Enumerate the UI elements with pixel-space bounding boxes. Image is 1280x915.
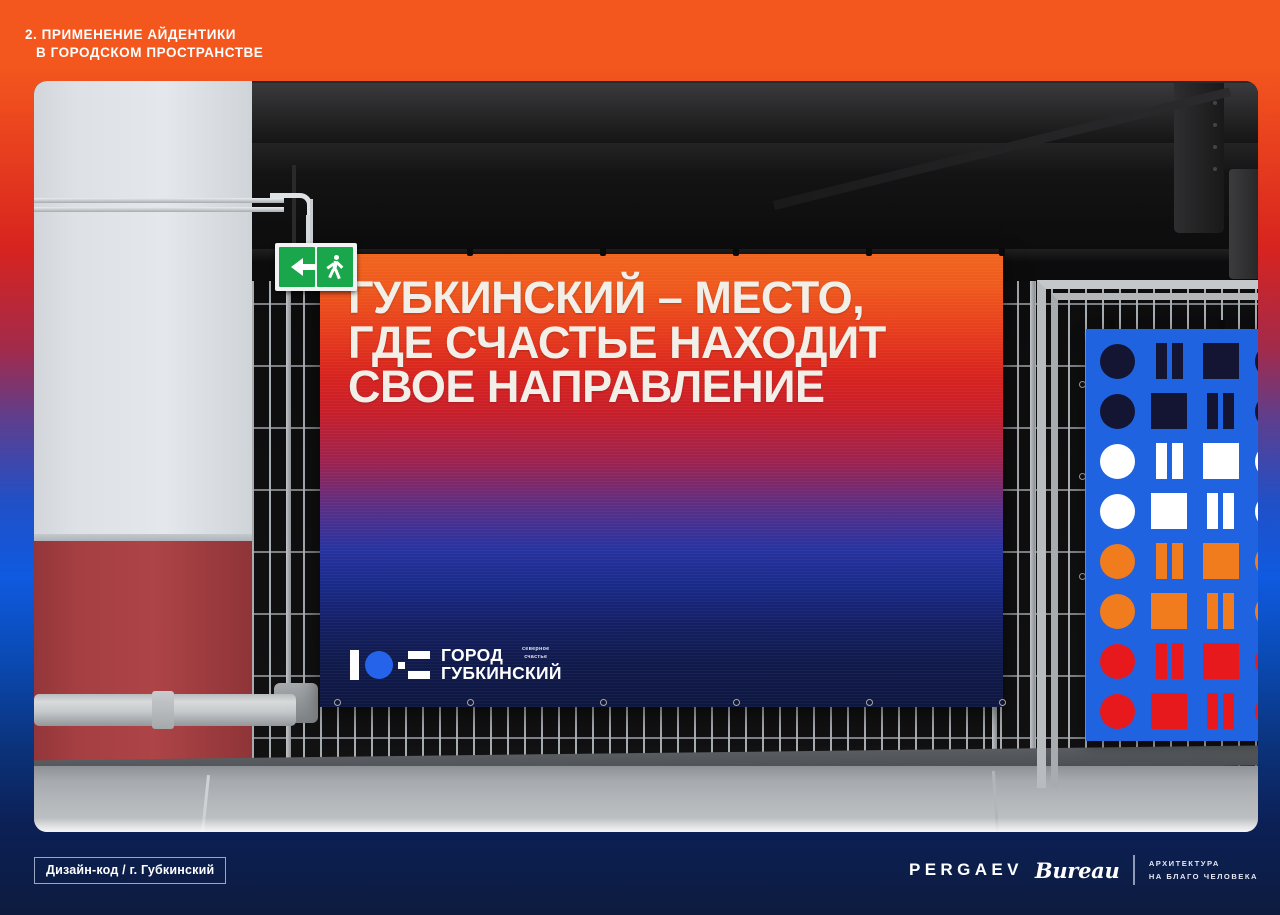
poster-cell-circle [1092,686,1144,736]
banner-eyelet [334,699,341,706]
brand-word: Bureau [1035,858,1120,883]
poster-cell-square [1195,436,1247,486]
steel-beam-secondary [249,143,1258,175]
brand-tagline-line-1: АРХИТЕКТУРА [1149,859,1220,868]
poster-cell-circle [1092,336,1144,386]
city-logo-word-2: ГУБКИНСКИЙ [441,665,562,683]
emergency-exit-sign [275,243,357,291]
banner-eyelet [866,699,873,706]
poster-cell-circle [1247,586,1259,636]
poster-cell-circle [1247,336,1259,386]
banner-eyelet [999,699,1006,706]
poster-cell-square [1195,636,1247,686]
poster-cell-bars [1144,336,1196,386]
city-logo-tagline: северное счастье [522,645,549,661]
poster-cell-bars [1144,536,1196,586]
poster-cell-square [1144,586,1196,636]
banner-zip-tie [467,247,473,256]
brand-tagline-line-2: НА БЛАГО ЧЕЛОВЕКА [1149,872,1258,881]
poster-cell-circle [1092,386,1144,436]
poster-cell-square [1144,686,1196,736]
poster-pattern-grid [1092,336,1258,736]
poster-cell-square [1195,336,1247,386]
banner-zip-tie [733,247,739,256]
banner-zip-tie [999,247,1005,256]
banner-eyelet [733,699,740,706]
poster-cell-circle [1247,436,1259,486]
wall-conduit [34,207,284,212]
section-title-line-1: 2. ПРИМЕНЕНИЕ АЙДЕНТИКИ [25,26,263,44]
brand-tagline: АРХИТЕКТУРА НА БЛАГО ЧЕЛОВЕКА [1149,857,1258,884]
poster-cell-bars [1144,636,1196,686]
city-logo-mark-icon [350,650,430,680]
banner-eyelet [467,699,474,706]
banner-zip-tie [866,247,872,256]
banner-eyelet [600,699,607,706]
banner-headline: ГУБКИНСКИЙ – МЕСТО, ГДЕ СЧАСТЬЕ НАХОДИТ … [348,276,886,410]
banner-headline-line-3: СВОЕ НАПРАВЛЕНИЕ [348,365,886,410]
section-title-line-2: В ГОРОДСКОМ ПРОСТРАНСТВЕ [25,44,263,62]
poster-cell-circle [1092,436,1144,486]
poster-cell-bars [1144,436,1196,486]
running-person-icon [317,247,353,287]
banner-headline-line-1: ГУБКИНСКИЙ – МЕСТО, [348,276,886,321]
banner-zip-tie [600,247,606,256]
poster-cell-square [1144,486,1196,536]
photo-mockup: ГУБКИНСКИЙ – МЕСТО, ГДЕ СЧАСТЬЕ НАХОДИТ … [34,81,1258,832]
poster-cell-circle [1247,386,1259,436]
red-wall-panel [34,541,252,766]
ground-highlight [34,818,1258,832]
poster-cell-circle [1092,486,1144,536]
poster-cell-square [1195,536,1247,586]
footer-project-badge: Дизайн-код / г. Губкинский [34,857,226,884]
poster-cell-bars [1195,586,1247,636]
pattern-poster [1086,329,1258,741]
poster-cell-bars [1195,386,1247,436]
poster-cell-bars [1195,686,1247,736]
city-identity-banner: ГУБКИНСКИЙ – МЕСТО, ГДЕ СЧАСТЬЕ НАХОДИТ … [320,254,1003,707]
poster-cell-square [1144,386,1196,436]
steel-beam-main [249,83,1258,145]
banner-headline-line-2: ГДЕ СЧАСТЬЕ НАХОДИТ [348,321,886,366]
building-column [34,81,252,541]
city-logo-tagline-line-2: счастье [522,653,549,661]
fence-post [1030,281,1035,801]
brand-name: PERGAEV [909,860,1023,880]
poster-cell-circle [1092,586,1144,636]
pipe-band [152,691,174,729]
poster-cell-circle [1247,486,1259,536]
poster-cell-circle [1247,686,1259,736]
poster-cell-circle [1092,536,1144,586]
poster-cell-bars [1195,486,1247,536]
city-logo-lockup: ГОРОД ГУБКИНСКИЙ северное счастье [350,647,562,683]
slide-section-title: 2. ПРИМЕНЕНИЕ АЙДЕНТИКИ В ГОРОДСКОМ ПРОС… [25,26,263,62]
footer-brand-lockup: PERGAEV Bureau АРХИТЕКТУРА НА БЛАГО ЧЕЛО… [909,855,1258,885]
wall-conduit [34,198,284,203]
slide-canvas: 2. ПРИМЕНЕНИЕ АЙДЕНТИКИ В ГОРОДСКОМ ПРОС… [0,0,1280,915]
city-logo-tagline-line-1: северное [522,645,549,653]
exit-sign-hanger [310,199,313,245]
poster-cell-circle [1247,636,1259,686]
poster-cell-circle [1247,536,1259,586]
ventilation-duct [1229,169,1258,279]
brand-divider [1133,855,1134,885]
left-arrow-icon [279,247,315,287]
poster-cell-circle [1092,636,1144,686]
